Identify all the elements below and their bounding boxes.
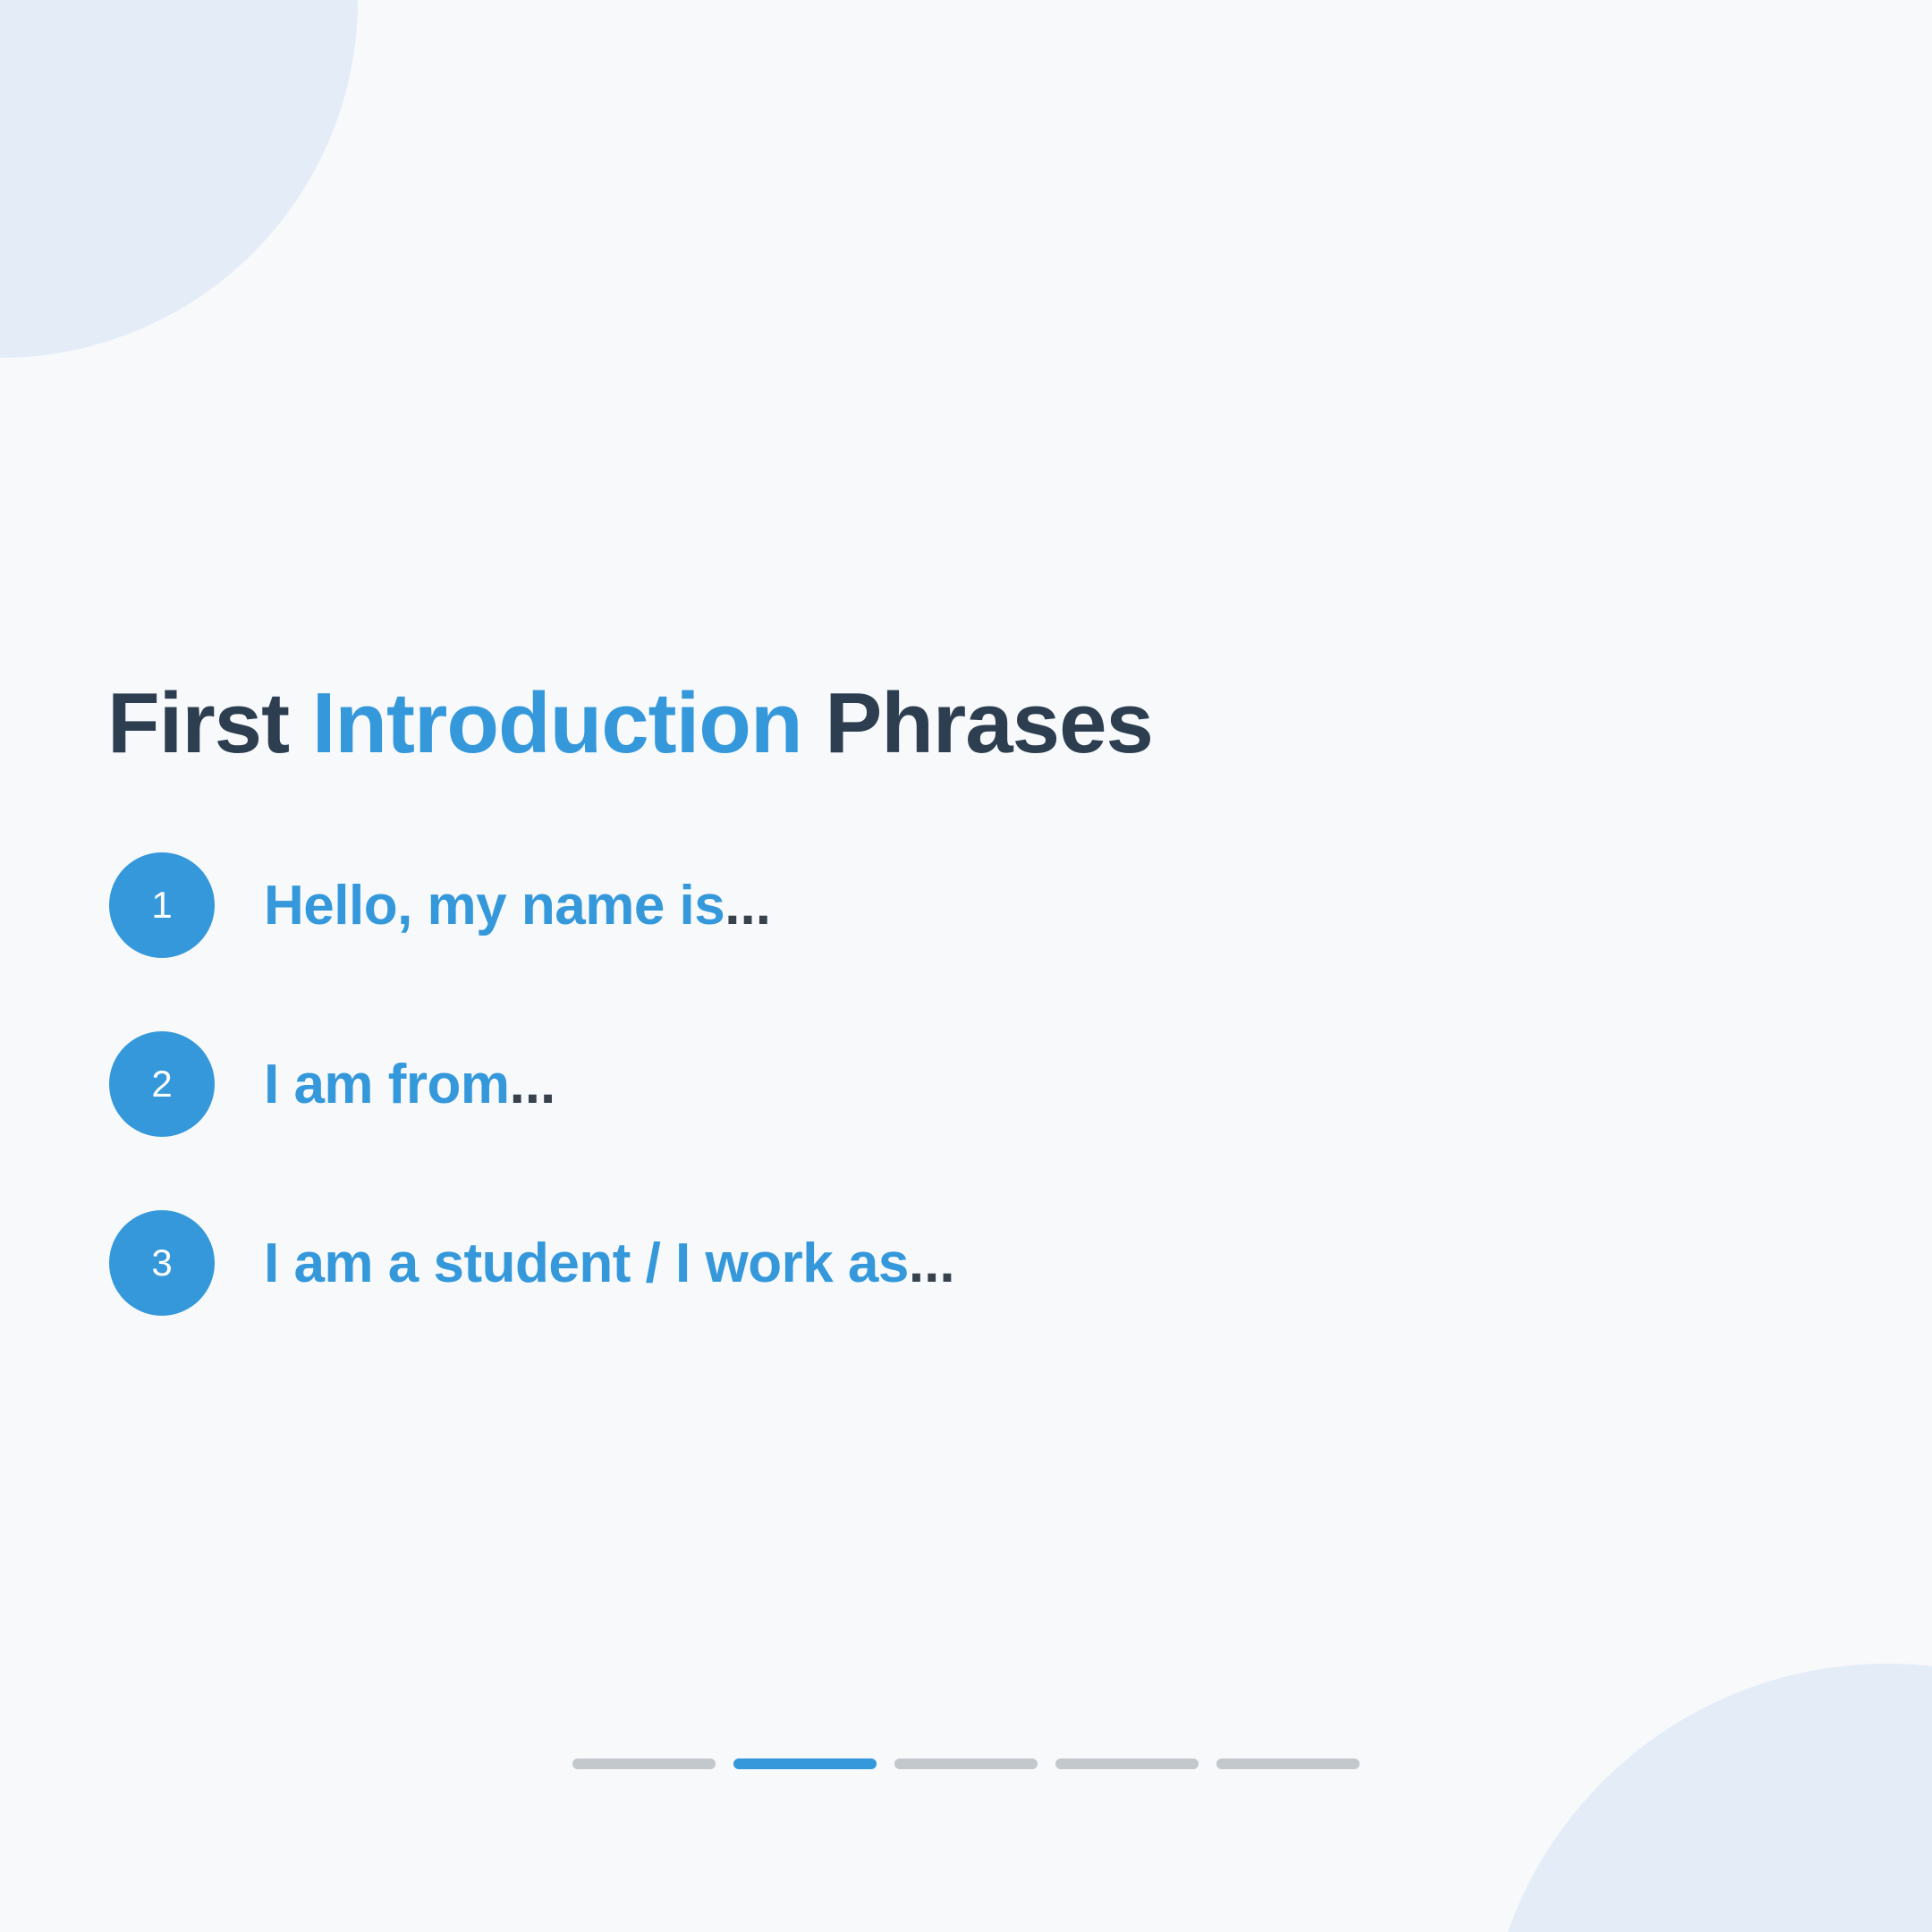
- phrase-label: Hello, my name is: [264, 874, 724, 937]
- phrase-label: I am a student / I work as: [264, 1232, 909, 1295]
- phrase-number-badge: 3: [109, 1210, 215, 1316]
- phrase-list: 1 Hello, my name is... 2 I am from... 3 …: [0, 852, 1932, 1389]
- list-item[interactable]: 1 Hello, my name is...: [0, 852, 1932, 1031]
- progress-dash-4[interactable]: [1055, 1758, 1199, 1769]
- phrase-text: Hello, my name is...: [264, 858, 771, 953]
- page-title: First Introduction Phrases: [107, 674, 1153, 773]
- page-title-part2: Phrases: [802, 675, 1153, 771]
- slide-content: First Introduction Phrases 1 Hello, my n…: [0, 0, 1932, 1932]
- phrase-label: I am from: [264, 1053, 510, 1116]
- phrase-number-badge: 2: [109, 1031, 215, 1137]
- progress-dash-1[interactable]: [572, 1758, 716, 1769]
- list-item[interactable]: 3 I am a student / I work as...: [0, 1210, 1932, 1389]
- progress-dash-3[interactable]: [894, 1758, 1038, 1769]
- page-title-accent: Introduction: [312, 675, 802, 771]
- phrase-ellipsis: ...: [510, 1053, 556, 1116]
- slide-canvas: First Introduction Phrases 1 Hello, my n…: [0, 0, 1932, 1932]
- phrase-text: I am a student / I work as...: [264, 1216, 955, 1310]
- phrase-ellipsis: ...: [909, 1232, 955, 1295]
- progress-dash-2[interactable]: [733, 1758, 877, 1769]
- progress-indicator[interactable]: [572, 1758, 1360, 1769]
- progress-dash-5[interactable]: [1216, 1758, 1360, 1769]
- phrase-number-badge: 1: [109, 852, 215, 958]
- page-title-part1: First: [107, 675, 312, 771]
- list-item[interactable]: 2 I am from...: [0, 1031, 1932, 1210]
- phrase-ellipsis: ...: [724, 874, 771, 937]
- phrase-text: I am from...: [264, 1037, 555, 1131]
